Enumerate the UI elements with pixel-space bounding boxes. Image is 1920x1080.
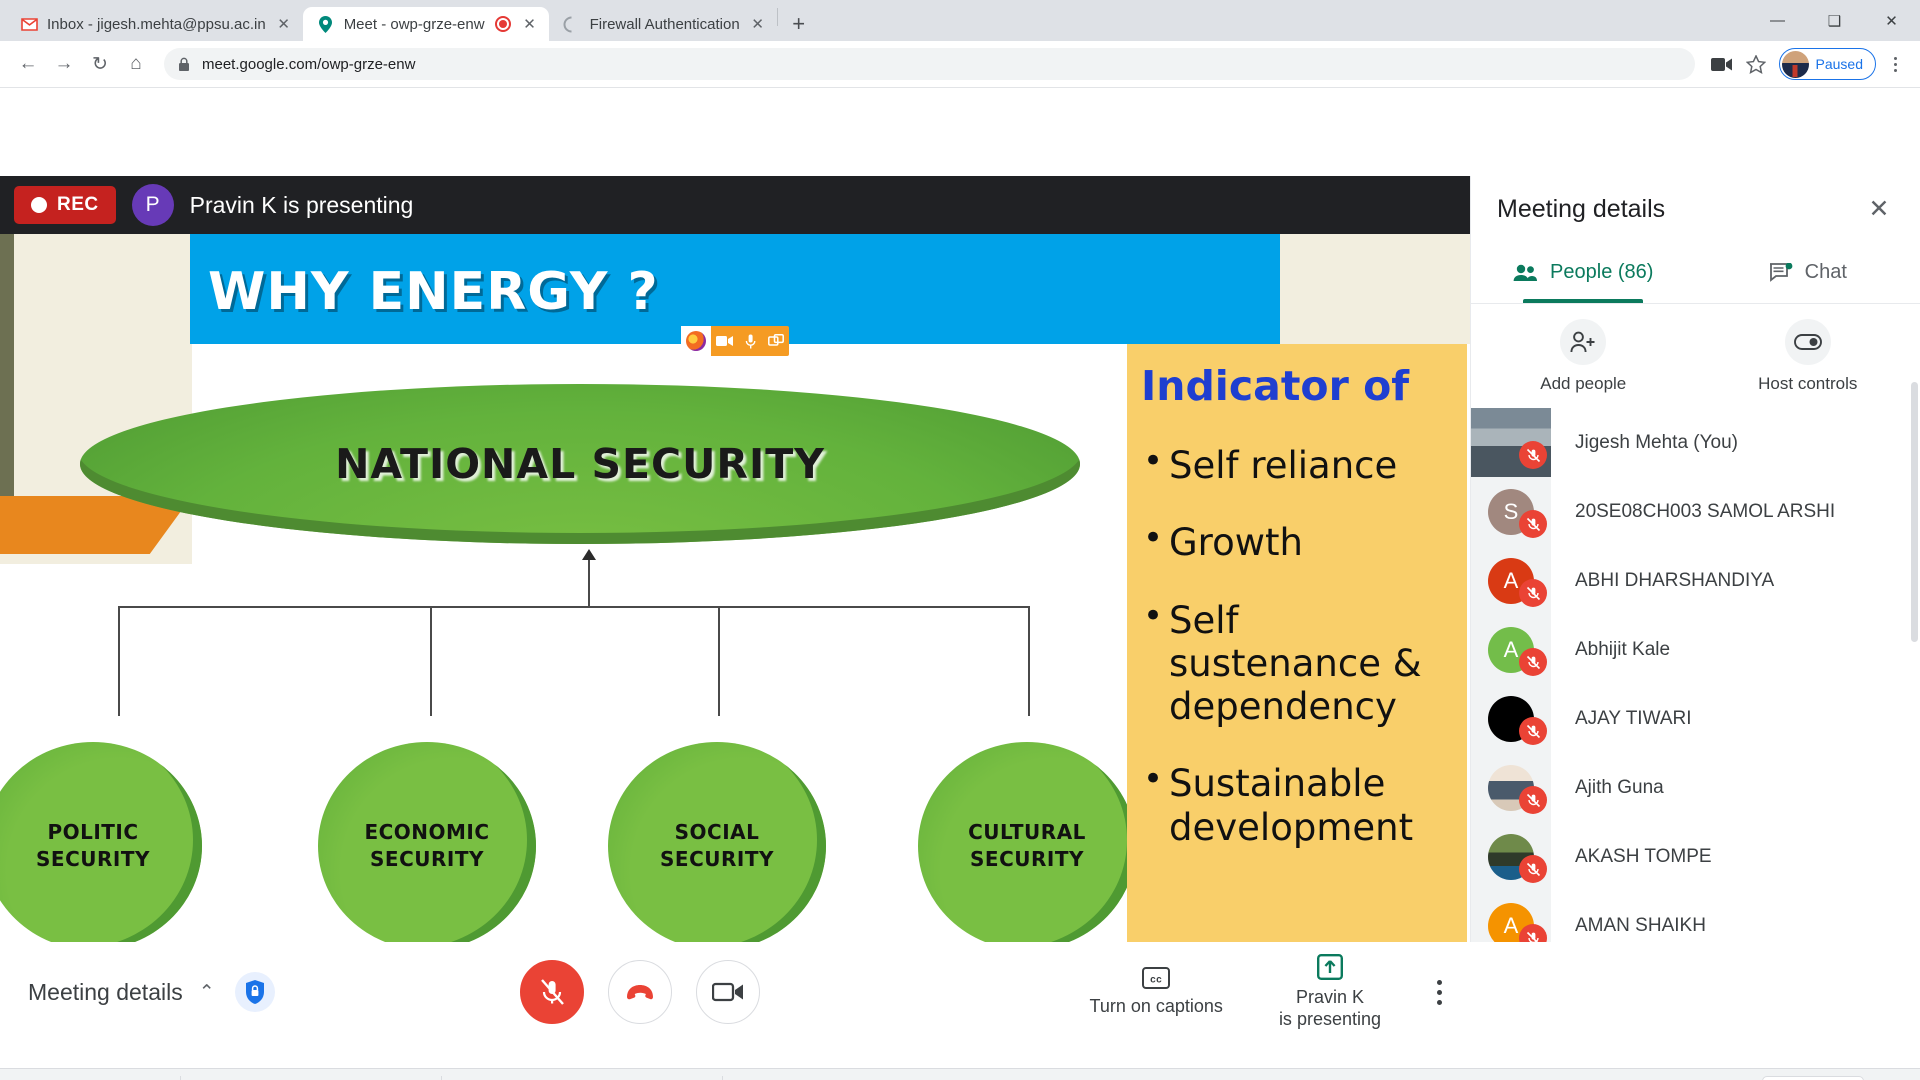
list-item[interactable]: AKASH TOMPE [1471,822,1920,891]
download-item-logo[interactable]: logo.png ⌃ [14,1076,181,1080]
people-icon [1513,264,1538,282]
control-bar-center [520,960,760,1024]
participant-name: AKASH TOMPE [1551,846,1712,868]
list-item[interactable]: Ajith Guna [1471,753,1920,822]
arrow-up-icon [582,549,596,560]
presenting-line2: is presenting [1279,1009,1381,1029]
shield-lock-icon [244,979,266,1005]
slide-decoration-left [0,234,192,564]
microphone-icon[interactable] [737,326,763,356]
panel-scrollbar[interactable] [1911,382,1918,642]
close-icon[interactable]: ✕ [275,15,293,33]
slide-indicator-panel: Indicator of Self reliance Growth Self s… [1127,344,1467,942]
tab-people[interactable]: People (86) [1471,242,1696,303]
slide-decoration-right [1280,234,1470,344]
close-icon[interactable]: ✕ [521,15,539,33]
slide-node-politic-security: POLITICSECURITY [0,742,202,942]
profile-paused-chip[interactable]: Paused [1779,48,1876,80]
meet-icon [317,15,335,33]
panel-header: Meeting details ✕ [1471,176,1920,242]
participant-name: Jigesh Mehta (You) [1551,432,1738,454]
panel-tabs: People (86) Chat [1471,242,1920,304]
firefox-icon [681,326,711,356]
panel-title: Meeting details [1497,195,1864,224]
tab-strip: Inbox - jigesh.mehta@ppsu.ac.in ✕ Meet -… [0,0,1920,41]
mic-off-icon [1519,579,1547,607]
node-label-line2: SECURITY [660,847,774,871]
browser-toolbar: ← → ↻ ⌂ meet.google.com/owp-grze-enw Pau… [0,41,1920,88]
camera-icon[interactable] [711,326,737,356]
avatar-wrap: A [1471,615,1551,684]
node-label-line1: POLITIC [47,820,138,844]
slide-node-national-security: NATIONAL SECURITY [80,384,1080,544]
node-label-line1: CULTURAL [968,820,1086,844]
url-text: meet.google.com/owp-grze-enw [202,56,1681,73]
node-label: NATIONAL SECURITY [80,440,1080,488]
avatar-wrap [1471,684,1551,753]
camera-icon[interactable] [1707,49,1737,79]
screenshare-floating-toolbar[interactable] [681,326,789,356]
tab-title: Inbox - jigesh.mehta@ppsu.ac.in [47,16,266,33]
close-icon[interactable]: ✕ [1864,194,1894,224]
connector-drop-3 [718,606,720,716]
download-item-engineering-logo[interactable]: engineering-logo.png ⌃ [181,1076,442,1080]
action-label: Host controls [1758,374,1857,394]
download-shelf: logo.png ⌃ engineering-logo.png ⌃ School… [0,1068,1920,1080]
participant-name: ABHI DHARSHANDIYA [1551,570,1774,592]
mic-off-icon [1519,510,1547,538]
browser-tab-firewall[interactable]: Firewall Authentication ✕ [549,7,777,41]
list-item: Self reliance [1141,444,1451,487]
connector-horizontal-bus [118,606,1030,608]
slide-node-economic-security: ECONOMICSECURITY [318,742,536,942]
list-item: Sustainable development [1141,762,1451,849]
tab-divider [777,8,778,26]
presenter-avatar: P [132,184,174,226]
mic-off-icon [1519,855,1547,883]
lock-icon [178,57,190,72]
paused-label: Paused [1816,56,1863,72]
minimize-button[interactable]: — [1749,0,1806,41]
meeting-details-label: Meeting details [28,979,183,1006]
tab-chat[interactable]: Chat [1696,242,1920,303]
control-bar-left: Meeting details ⌃ [0,972,520,1012]
reload-button[interactable]: ↻ [84,48,116,80]
panel-bullet-list: Self reliance Growth Self sustenance & d… [1141,444,1451,849]
add-people-button[interactable]: Add people [1471,304,1696,408]
participant-name: Ajith Guna [1551,777,1664,799]
captions-label: Turn on captions [1090,995,1223,1018]
new-tab-button[interactable]: + [782,7,816,41]
recording-badge: REC [14,186,116,224]
connector-drop-4 [1028,606,1030,716]
mic-toggle-button[interactable] [520,960,584,1024]
list-item[interactable]: AJAY TIWARI [1471,684,1920,753]
list-item[interactable]: S 20SE08CH003 SAMOL ARSHI [1471,477,1920,546]
screenshare-icon[interactable] [763,326,789,356]
close-window-button[interactable]: ✕ [1863,0,1920,41]
mic-off-icon [1519,717,1547,745]
avatar [1782,51,1809,78]
node-label-line2: SECURITY [370,847,484,871]
recording-indicator-icon [494,15,512,33]
avatar-wrap [1471,753,1551,822]
participant-name: Abhijit Kale [1551,639,1670,661]
mic-off-icon [539,978,565,1006]
home-button[interactable]: ⌂ [120,48,152,80]
meeting-details-panel: Meeting details ✕ People (86) Chat [1470,176,1920,942]
panel-actions: Add people Host controls [1471,304,1920,408]
participant-name: AMAN SHAIKH [1551,915,1706,937]
three-dot-menu-icon[interactable] [1882,49,1908,79]
list-item[interactable]: Jigesh Mehta (You) [1471,408,1920,477]
chevron-up-icon: ⌃ [199,981,215,1004]
chrome-browser-window: Inbox - jigesh.mehta@ppsu.ac.in ✕ Meet -… [0,0,1920,1080]
shelf-right-controls: Show all ✕ [1762,1076,1906,1080]
host-controls-button[interactable]: Host controls [1696,304,1920,408]
slide-node-social-security: SOCIALSECURITY [608,742,826,942]
node-label-line1: ECONOMIC [364,820,489,844]
browser-tab-meet[interactable]: Meet - owp-grze-enw ✕ [303,7,549,41]
slide-node-cultural-security: CULTURALSECURITY [918,742,1136,942]
list-item[interactable]: A AMAN SHAIKH [1471,891,1920,942]
camera-toggle-button[interactable] [696,960,760,1024]
panel-title: Indicator of [1141,362,1451,410]
avatar-wrap: A [1471,546,1551,615]
mic-off-icon [1519,786,1547,814]
add-person-icon [1560,319,1606,365]
recording-banner: REC P Pravin K is presenting [0,176,1470,234]
tab-label: Chat [1805,261,1847,284]
security-shield-button[interactable] [235,972,275,1012]
end-call-button[interactable] [608,960,672,1024]
show-all-downloads-button[interactable]: Show all [1762,1076,1864,1080]
list-item[interactable]: A ABHI DHARSHANDIYA [1471,546,1920,615]
meet-presentation-area: REC P Pravin K is presenting WHY ENERGY … [0,176,1470,942]
browser-tab-inbox[interactable]: Inbox - jigesh.mehta@ppsu.ac.in ✕ [6,7,303,41]
close-icon[interactable]: ✕ [749,15,767,33]
node-label-line2: SECURITY [970,847,1084,871]
mic-off-icon [1519,648,1547,676]
avatar-wrap: S [1471,477,1551,546]
star-icon[interactable] [1741,49,1771,79]
list-item[interactable]: A Abhijit Kale [1471,615,1920,684]
maximize-button[interactable]: ❑ [1806,0,1863,41]
action-label: Add people [1540,374,1626,394]
node-label-line2: SECURITY [36,847,150,871]
tab-title: Firewall Authentication [590,16,740,33]
svg-text:cc: cc [1150,975,1162,986]
presenting-indicator[interactable]: Pravin Kis presenting [1279,954,1381,1031]
gmail-icon [20,15,38,33]
avatar-wrap: A [1471,891,1551,942]
mic-off-icon [1519,924,1547,942]
address-bar[interactable]: meet.google.com/owp-grze-enw [164,48,1695,80]
cc-icon: cc [1142,967,1170,989]
record-dot-icon [31,197,47,213]
node-label-line1: SOCIAL [675,820,760,844]
connector-drop-2 [430,606,432,716]
end-call-icon [625,983,655,1001]
connector-drop-1 [118,606,120,716]
chat-icon [1769,263,1793,283]
presenter-status: Pravin K is presenting [190,192,414,219]
back-button[interactable]: ← [12,48,44,80]
page-viewport: REC P Pravin K is presenting WHY ENERGY … [0,88,1920,1080]
meet-control-bar: Meeting details ⌃ [0,942,1470,1042]
toggle-switch-icon [1785,319,1831,365]
download-item-school-html[interactable]: School of Engine....html ⌃ [442,1076,723,1080]
connector-vertical-center [588,559,590,607]
present-screen-icon [1317,954,1343,980]
list-item: Growth [1141,521,1451,564]
control-bar-right: cc Turn on captions Pravin Kis presentin… [1090,954,1470,1031]
tab-title: Meet - owp-grze-enw [344,16,485,33]
loading-spinner-icon [563,15,581,33]
tab-label: People (86) [1550,261,1653,284]
slide-title: WHY ENERGY ? [208,262,659,322]
participant-name: AJAY TIWARI [1551,708,1692,730]
participant-list[interactable]: Jigesh Mehta (You) S 20SE08CH003 SAMOL A… [1471,408,1920,942]
avatar-wrap [1471,408,1551,477]
avatar-wrap [1471,822,1551,891]
rec-label: REC [57,194,99,216]
presenting-line1: Pravin K [1296,987,1364,1007]
mic-off-icon [1519,441,1547,469]
captions-button[interactable]: cc Turn on captions [1090,967,1223,1018]
meeting-details-toggle[interactable]: Meeting details ⌃ [28,979,215,1006]
list-item: Self sustenance & dependency [1141,599,1451,729]
forward-button[interactable]: → [48,48,80,80]
window-controls: — ❑ ✕ [1749,0,1920,41]
camera-off-icon [712,981,744,1003]
more-options-button[interactable] [1437,980,1442,1005]
participant-name: 20SE08CH003 SAMOL ARSHI [1551,501,1835,523]
